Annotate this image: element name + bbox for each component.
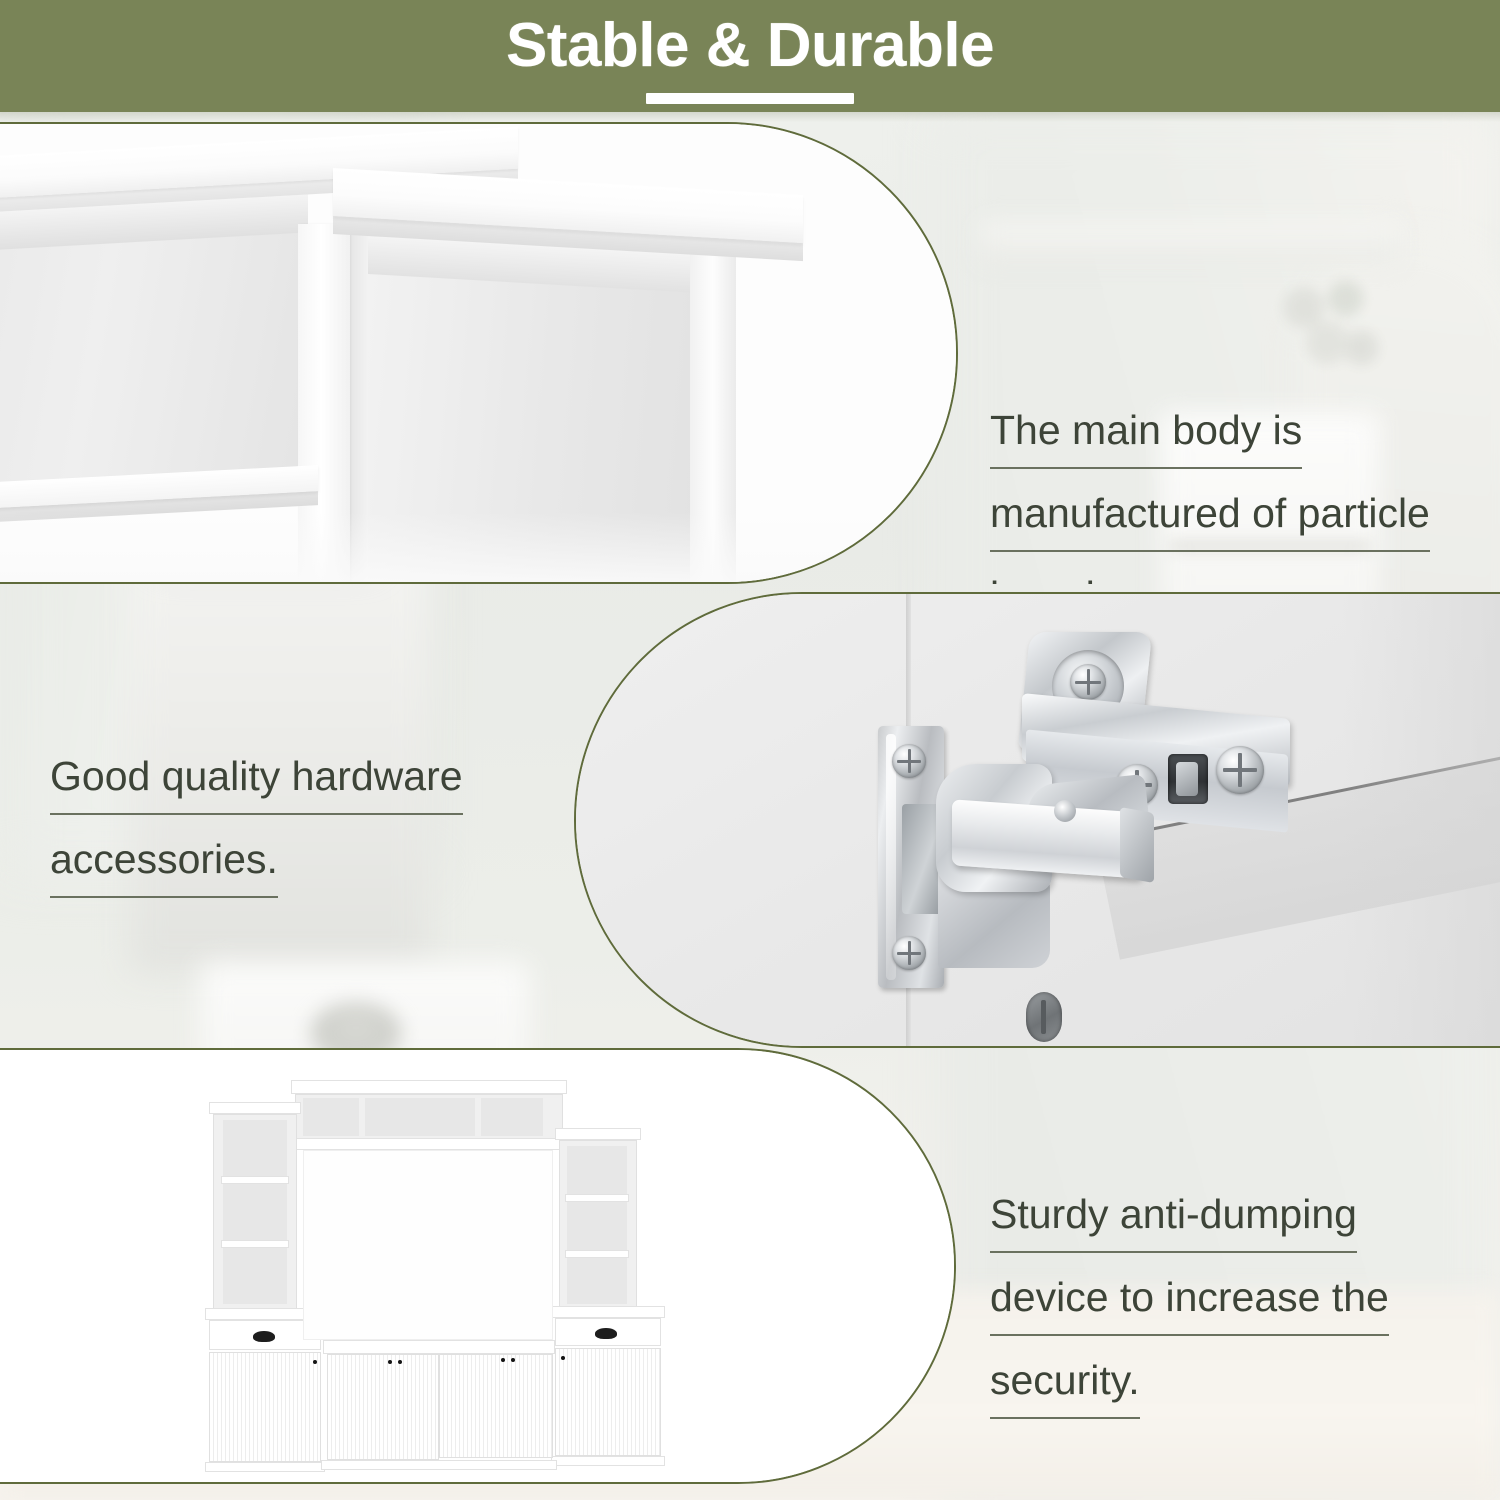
hinge-cam-insert [1176,762,1198,796]
hutch-bottom-shelf [289,1138,569,1150]
screw-icon [892,744,926,778]
tv-opening [303,1150,553,1340]
console-plinth [321,1460,557,1470]
door-knob-icon [561,1356,565,1360]
screw-icon [1216,746,1264,794]
header-banner: Stable & Durable [0,0,1500,112]
caption-line: security. [990,1344,1140,1419]
right-tower-shelf-space [567,1258,627,1304]
caption-line: board. [990,560,1106,584]
hinge-assembly [876,614,1306,1034]
panel-material: The main body is manufactured of particl… [0,122,1500,584]
right-base-plinth [551,1456,665,1466]
left-base-door [209,1352,321,1462]
caption-line: device to increase the [990,1261,1389,1336]
caption-line: Good quality hardware [50,740,463,815]
hutch-compartment [365,1098,475,1136]
cabinet-hinge-closeup [574,592,1500,1048]
right-tower-shelf [565,1250,629,1258]
hutch-compartment [303,1098,359,1136]
hinge-pivot-pin [1054,800,1076,822]
hutch-top-molding [291,1080,567,1094]
door-knob-icon [511,1358,515,1362]
left-base-plinth [205,1462,325,1472]
right-tower-shelf-space [567,1202,627,1250]
door-knob-icon [501,1358,505,1362]
infographic-page: Stable & Durable The main body is manufa… [0,0,1500,1500]
hinge-lever-end-cap [1120,807,1154,883]
caption-line: Sturdy anti-dumping [990,1178,1357,1253]
left-tower-top-molding [209,1102,301,1114]
photo-right-fade [1342,594,1500,1046]
right-tower-shelf-space [567,1146,627,1194]
right-base-top [551,1306,665,1318]
caption-material: The main body is manufactured of particl… [990,394,1490,584]
hinge-lever-arm [952,799,1142,878]
cam-lock-slot [1041,1000,1046,1034]
screw-icon [892,936,926,970]
entertainment-center-full-unit [0,1048,956,1484]
left-tower-shelf [221,1240,289,1248]
left-tower-shelf-space [223,1248,287,1304]
door-knob-icon [398,1360,402,1364]
console-door-left-pair [327,1354,439,1460]
screw-icon [1070,664,1106,700]
cabinet-top-corner-closeup [0,122,958,584]
caption-safety: Sturdy anti-dumping device to increase t… [990,1178,1460,1419]
console-door-right-pair [439,1354,553,1458]
panel-safety: Sturdy anti-dumping device to increase t… [0,1048,1500,1484]
caption-hardware: Good quality hardware accessories. [50,740,570,898]
title-underline-rule [646,93,854,104]
left-tower-shelf-space [223,1184,287,1240]
right-tower-shelf [565,1194,629,1202]
left-tower-shelf-space [223,1120,287,1176]
header-dropshadow [0,112,1500,122]
wall-unit-product [183,1068,683,1468]
drawer-pull-icon [595,1328,617,1339]
console-top [323,1340,555,1354]
door-knob-icon [313,1360,317,1364]
hutch-compartment [481,1098,543,1136]
left-tower-shelf [221,1176,289,1184]
photo-bottom-fade [0,512,958,582]
cabinet-open-bay-left [0,218,308,498]
panel-hardware: Good quality hardware accessories. [0,592,1500,1048]
page-title: Stable & Durable [0,8,1500,84]
caption-line: manufactured of particle [990,477,1430,552]
right-tower-top-molding [555,1128,641,1140]
right-base-door [555,1348,661,1456]
caption-line: accessories. [50,823,278,898]
drawer-pull-icon [253,1331,275,1342]
caption-line: The main body is [990,394,1302,469]
door-knob-icon [388,1360,392,1364]
